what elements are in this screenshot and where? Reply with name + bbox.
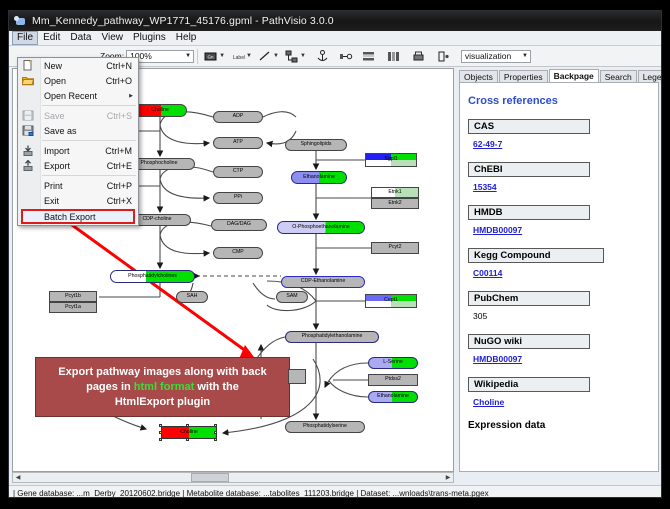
menu-item-label: Save: [44, 111, 65, 121]
node-label: Choline: [180, 430, 198, 435]
line-dropdown-icon[interactable]: ▼: [273, 53, 279, 59]
tab-backpage[interactable]: Backpage: [549, 69, 599, 83]
pathvisio-icon: [14, 15, 27, 28]
node-label: O-Phosphoethanolamine: [292, 225, 349, 230]
annotation-arrow: [61, 217, 257, 361]
selection-handle[interactable]: [214, 438, 217, 441]
toolbar-separator: [197, 49, 198, 64]
node-dag[interactable]: DAG/DAG: [211, 219, 267, 231]
menu-separator: [42, 105, 136, 106]
node-ptdss2[interactable]: Ptdss2: [368, 374, 418, 386]
node-sam[interactable]: SAM: [276, 291, 308, 303]
xref-db-label: Wikipedia: [468, 377, 590, 392]
node-label: SAM: [286, 294, 297, 299]
node-adp[interactable]: ADP: [213, 111, 263, 123]
datanode-icon[interactable]: Gn: [203, 49, 218, 64]
scrollbar-thumb[interactable]: [191, 473, 229, 482]
xref-group-kegg: Kegg Compound C00114: [468, 248, 652, 281]
callout-line2a: pages in: [86, 381, 134, 393]
callout-line3: HtmlExport plugin: [115, 396, 210, 408]
save-icon: [22, 110, 34, 121]
xref-db-label: PubChem: [468, 291, 590, 306]
file-menu-popup[interactable]: New Ctrl+N Open Ctrl+O Open Recent Save …: [17, 57, 139, 226]
node-label: DAG/DAG: [227, 222, 251, 227]
page-frame: Mm_Kennedy_pathway_WP1771_45176.gpml - P…: [0, 0, 670, 509]
node-label: ATP: [233, 140, 243, 145]
menu-item-label: Import: [44, 146, 70, 156]
menu-item-label: Print: [44, 181, 63, 191]
xref-db-label: HMDB: [468, 205, 590, 220]
node-label: Phosphatidylethanolamine: [302, 334, 363, 339]
status-bar: | Gene database: ...m_Derby_20120602.bri…: [9, 485, 661, 498]
xref-value-text: 305: [473, 311, 487, 321]
pathvisio-window: Mm_Kennedy_pathway_WP1771_45176.gpml - P…: [8, 10, 662, 498]
menu-item-open-recent[interactable]: Open Recent: [18, 88, 138, 103]
menu-item-open[interactable]: Open Ctrl+O: [18, 73, 138, 88]
node-choline-top[interactable]: Choline: [133, 104, 187, 117]
annotation-callout: Export pathway images along with back pa…: [35, 357, 290, 417]
node-label: CDP-Ethanolamine: [301, 279, 345, 284]
node-label: Pcyt1b: [65, 294, 81, 299]
folder-icon: [22, 75, 34, 86]
menu-item-accel: Ctrl+N: [106, 61, 132, 71]
xref-group-pubchem: PubChem 305: [468, 291, 652, 324]
scrollbar-track[interactable]: [23, 473, 443, 482]
xref-value-link[interactable]: Choline: [473, 397, 504, 407]
node-etnk2[interactable]: Etnk2: [371, 198, 419, 209]
xref-group-nugo: NuGO wiki HMDB00097: [468, 334, 652, 367]
selection-handle[interactable]: [159, 438, 162, 441]
annotation-text: Export pathway images along with back pa…: [52, 365, 272, 410]
visualization-value: visualization: [465, 51, 511, 61]
menu-item-accel: Ctrl+M: [105, 146, 132, 156]
node-label: Etnk2: [388, 201, 401, 206]
save-as-icon: [22, 125, 34, 136]
node-cdp-ethanolamine[interactable]: CDP-Ethanolamine: [281, 276, 365, 288]
menu-item-label: Save as: [44, 126, 77, 136]
callout-highlight: html format: [134, 381, 195, 393]
menu-file[interactable]: File: [12, 31, 38, 45]
xref-value-link[interactable]: HMDB00097: [473, 354, 522, 364]
node-sah[interactable]: SAH: [176, 291, 208, 303]
xref-group-hmdb: HMDB HMDB00097: [468, 205, 652, 238]
node-label: Ethanolamine: [303, 175, 335, 180]
node-label: Pcyt2: [389, 245, 402, 250]
node-label: Phosphatidylserine: [303, 424, 347, 429]
xref-value-link[interactable]: 15354: [473, 182, 497, 192]
selection-handle[interactable]: [214, 424, 217, 427]
node-label: Phosphatidylcholines: [128, 274, 177, 279]
menu-item-label: New: [44, 61, 62, 71]
selection-handle[interactable]: [214, 431, 217, 434]
node-phosphatidylcholines[interactable]: Phosphatidylcholines: [110, 270, 195, 283]
cross-references-title: Cross references: [468, 95, 652, 107]
node-label: Sgpl1: [384, 157, 397, 162]
node-pcyt2[interactable]: Pcyt2: [371, 242, 419, 254]
selection-handle[interactable]: [159, 424, 162, 427]
group-icon[interactable]: [386, 49, 401, 64]
export-icon: [22, 160, 34, 171]
menu-item-accel: Ctrl+O: [106, 76, 132, 86]
title-bar: Mm_Kennedy_pathway_WP1771_45176.gpml - P…: [9, 11, 661, 32]
menu-bar: File Edit Data View Plugins Help: [9, 31, 661, 46]
xref-db-label: NuGO wiki: [468, 334, 590, 349]
pathway-connector-box: [288, 369, 306, 384]
menu-item-import[interactable]: Import Ctrl+M: [18, 143, 138, 158]
menu-item-label: Open: [44, 76, 66, 86]
node-phosphatidylethanolamine[interactable]: Phosphatidylethanolamine: [285, 331, 379, 343]
node-cept1[interactable]: Cept1: [365, 294, 417, 308]
menu-item-exit[interactable]: Exit Ctrl+X: [18, 193, 138, 208]
menu-item-save-as[interactable]: Save as: [18, 123, 138, 138]
node-atp[interactable]: ATP: [213, 137, 263, 149]
xref-db-label: Kegg Compound: [468, 248, 604, 263]
xref-group-wikipedia: Wikipedia Choline: [468, 377, 652, 410]
import-icon: [22, 145, 34, 156]
node-sgpl1[interactable]: Sgpl1: [365, 153, 417, 167]
menu-item-label: Open Recent: [44, 91, 97, 101]
node-label: Pcyt1a: [65, 305, 81, 310]
node-label: Phosphocholine: [141, 161, 178, 166]
menu-separator: [42, 175, 136, 176]
callout-line2c: with the: [194, 381, 239, 393]
menu-item-save: Save Ctrl+S: [18, 108, 138, 123]
scroll-left-icon[interactable]: ◀: [13, 473, 23, 482]
state-icon[interactable]: [338, 49, 353, 64]
node-phosphatidylserine[interactable]: Phosphatidylserine: [285, 421, 365, 433]
node-label: ADP: [233, 114, 244, 119]
selection-handle[interactable]: [186, 438, 189, 441]
align-icon[interactable]: [361, 49, 376, 64]
menu-item-accel: Ctrl+E: [107, 161, 132, 171]
side-panel: Objects Properties Backpage Search Legen…: [459, 68, 659, 472]
menu-item-label: Export: [44, 161, 70, 171]
xref-value-link[interactable]: 62-49-7: [473, 139, 502, 149]
svg-text:Label: Label: [233, 55, 245, 61]
menu-item-batch-export[interactable]: Batch Export: [18, 209, 138, 224]
interaction-dropdown-icon[interactable]: ▼: [300, 53, 306, 59]
new-file-icon: [22, 60, 34, 71]
callout-line1: Export pathway images along with back: [58, 366, 266, 378]
window-title: Mm_Kennedy_pathway_WP1771_45176.gpml - P…: [32, 15, 334, 27]
node-etnk1[interactable]: Etnk1: [371, 187, 419, 198]
node-label: Ethanolamine: [377, 394, 409, 399]
menu-item-accel: Ctrl+P: [107, 181, 132, 191]
menu-item-new[interactable]: New Ctrl+N: [18, 58, 138, 73]
print-icon[interactable]: [411, 49, 426, 64]
node-cmp[interactable]: CMP: [213, 247, 263, 259]
properties-icon[interactable]: [436, 49, 451, 64]
node-pcyt1a[interactable]: Pcyt1a: [49, 302, 97, 313]
menu-item-label: Batch Export: [44, 212, 96, 222]
xref-db-label: ChEBI: [468, 162, 590, 177]
selection-handle[interactable]: [159, 431, 162, 434]
side-panel-tabs: Objects Properties Backpage Search Legen…: [459, 68, 659, 83]
node-label: CTP: [233, 169, 243, 174]
interaction-icon[interactable]: [284, 49, 299, 64]
node-o-phosphoethanolamine[interactable]: O-Phosphoethanolamine: [277, 221, 365, 234]
backpage-panel: Cross references CAS 62-49-7 ChEBI 15354…: [459, 82, 659, 472]
node-label: PPi: [234, 195, 242, 200]
node-label: L-Serine: [383, 360, 403, 365]
menu-plugins[interactable]: Plugins: [128, 31, 171, 45]
node-choline-bottom[interactable]: Choline: [161, 426, 217, 439]
menu-data[interactable]: Data: [65, 31, 96, 45]
expression-data-title: Expression data: [468, 420, 652, 431]
menu-item-print[interactable]: Print Ctrl+P: [18, 178, 138, 193]
node-ethanolamine-top[interactable]: Ethanolamine: [291, 171, 347, 184]
node-label: Cept1: [384, 298, 398, 303]
anchor-icon[interactable]: [315, 49, 330, 64]
node-ethanolamine-bottom[interactable]: Ethanolamine: [368, 391, 418, 403]
canvas-horizontal-scrollbar[interactable]: ◀ ▶: [12, 472, 454, 483]
node-label: Etnk1: [388, 190, 401, 195]
menu-item-accel: Ctrl+S: [107, 111, 132, 121]
datanode-dropdown-icon[interactable]: ▼: [219, 53, 225, 59]
node-pcyt1b[interactable]: Pcyt1b: [49, 291, 97, 302]
menu-view[interactable]: View: [96, 31, 128, 45]
menu-item-accel: Ctrl+X: [107, 196, 132, 206]
xref-db-label: CAS: [468, 119, 590, 134]
menu-help[interactable]: Help: [171, 31, 202, 45]
scroll-right-icon[interactable]: ▶: [443, 473, 453, 482]
menu-item-export[interactable]: Export Ctrl+E: [18, 158, 138, 173]
node-label: Sphingolipids: [301, 142, 332, 147]
menu-separator: [42, 140, 136, 141]
line-icon[interactable]: [257, 49, 272, 64]
node-l-serine[interactable]: L-Serine: [368, 357, 418, 369]
chevron-down-icon: ▼: [185, 53, 191, 59]
label-icon[interactable]: Label: [230, 49, 245, 64]
xref-group-chebi: ChEBI 15354: [468, 162, 652, 195]
node-label: CDP-choline: [142, 217, 171, 222]
menu-item-label: Exit: [44, 196, 59, 206]
node-label: Choline: [151, 108, 169, 113]
node-label: CMP: [232, 250, 244, 255]
node-label: SAH: [187, 294, 198, 299]
node-sphingolipids[interactable]: Sphingolipids: [285, 139, 347, 151]
xref-value-link[interactable]: C00114: [473, 268, 502, 278]
xref-group-cas: CAS 62-49-7: [468, 119, 652, 152]
node-ctp[interactable]: CTP: [213, 166, 263, 178]
status-text: | Gene database: ...m_Derby_20120602.bri…: [13, 489, 489, 498]
node-ppi[interactable]: PPi: [213, 192, 263, 204]
selection-handle[interactable]: [186, 424, 189, 427]
visualization-combo[interactable]: visualization ▼: [461, 50, 531, 63]
xref-value-link[interactable]: HMDB00097: [473, 225, 522, 235]
chevron-down-icon: ▼: [522, 53, 528, 59]
node-label: Ptdss2: [385, 377, 401, 382]
menu-edit[interactable]: Edit: [38, 31, 65, 45]
svg-text:Gn: Gn: [208, 54, 215, 59]
